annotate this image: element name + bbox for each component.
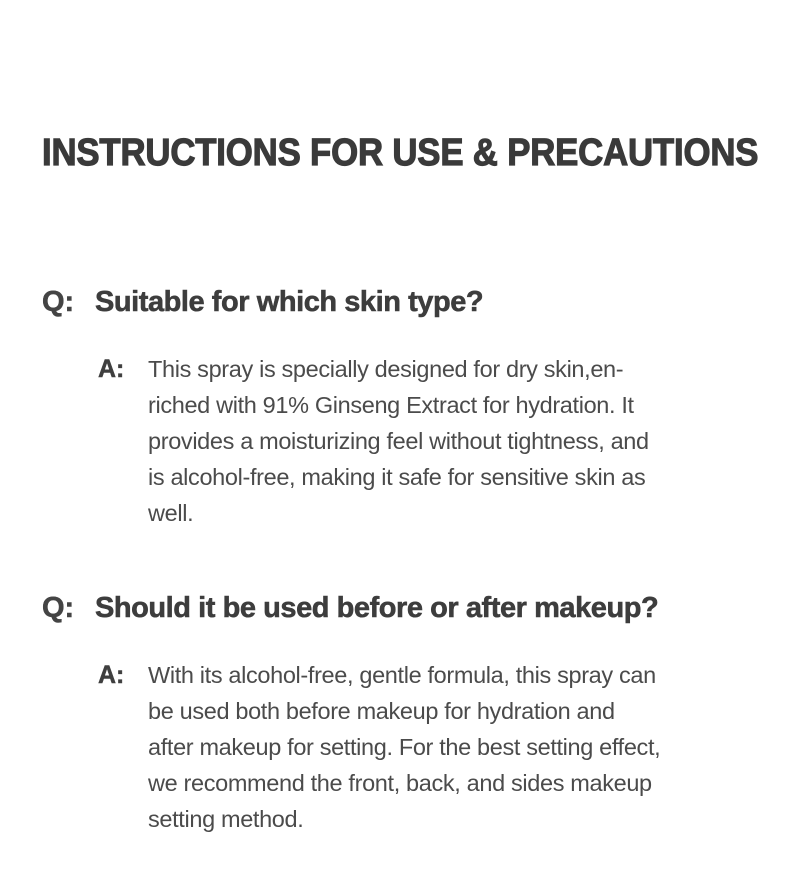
faq-item: Q: Should it be used before or after mak…: [0, 588, 790, 837]
answer-row: A: With its alcohol-free, gentle formula…: [0, 628, 790, 837]
question-row: Q: Suitable for which skin type?: [0, 282, 790, 322]
question-row: Q: Should it be used before or after mak…: [0, 588, 790, 628]
faq-item: Q: Suitable for which skin type? A: This…: [0, 282, 790, 531]
answer-line: provides a moisturizing feel without tig…: [148, 423, 786, 459]
answer-label: A:: [98, 351, 148, 387]
answer-line: This spray is specially designed for dry…: [148, 351, 786, 387]
answer-line: With its alcohol-free, gentle formula, t…: [148, 657, 786, 693]
instructions-page: INSTRUCTIONS FOR USE & PRECAUTIONS Q: Su…: [0, 0, 790, 891]
answer-line: we recommend the front, back, and sides …: [148, 765, 786, 801]
answer-body: This spray is specially designed for dry…: [148, 351, 786, 531]
question-text: Should it be used before or after makeup…: [95, 588, 790, 628]
answer-line: riched with 91% Ginseng Extract for hydr…: [148, 387, 786, 423]
answer-line: is alcohol-free, making it safe for sens…: [148, 459, 786, 495]
answer-line: be used both before makeup for hydration…: [148, 693, 786, 729]
question-label: Q:: [42, 282, 95, 322]
question-label: Q:: [42, 588, 95, 628]
page-title: INSTRUCTIONS FOR USE & PRECAUTIONS: [42, 131, 692, 175]
answer-line: after makeup for setting. For the best s…: [148, 729, 786, 765]
question-text: Suitable for which skin type?: [95, 282, 790, 322]
answer-row: A: This spray is specially designed for …: [0, 322, 790, 531]
answer-line: setting method.: [148, 801, 786, 837]
answer-line: well.: [148, 495, 786, 531]
answer-body: With its alcohol-free, gentle formula, t…: [148, 657, 786, 837]
answer-label: A:: [98, 657, 148, 693]
